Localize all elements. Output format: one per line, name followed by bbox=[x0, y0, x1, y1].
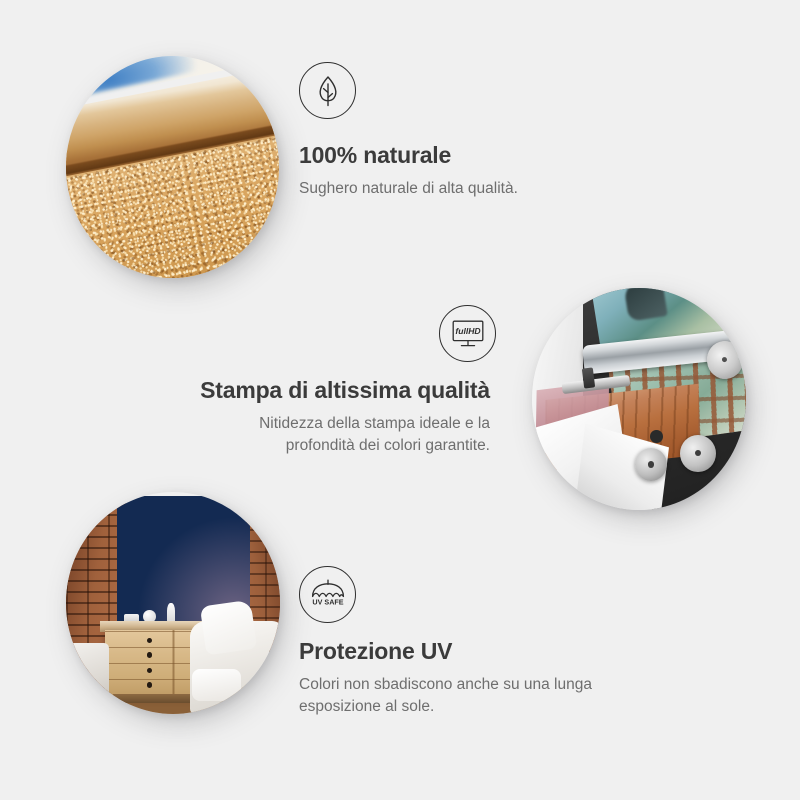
printing-press-photo bbox=[532, 288, 746, 510]
room-world-map-photo bbox=[66, 492, 280, 714]
feature-print-subtext: Nitidezza della stampa ideale e la profo… bbox=[180, 413, 490, 457]
fullhd-icon-label: fullHD bbox=[455, 326, 480, 336]
room-dresser-knob bbox=[147, 682, 153, 688]
print-photo-inner bbox=[532, 288, 746, 510]
uv-safe-icon-label: UV SAFE bbox=[312, 597, 343, 606]
feature-print-subtext-line1: Nitidezza della stampa ideale e la bbox=[259, 415, 490, 432]
print-wheel-a bbox=[635, 448, 667, 481]
feature-uv-subtext-line2: esposizione al sole. bbox=[299, 698, 434, 715]
feature-uv-headline: Protezione UV bbox=[299, 638, 699, 665]
room-photo-inner bbox=[66, 492, 280, 714]
feature-uv-subtext-line1: Colori non sbadiscono anche su una lunga bbox=[299, 676, 592, 693]
cork-photo-inner bbox=[66, 56, 279, 278]
feature-natural: 100% naturale Sughero naturale di alta q… bbox=[299, 62, 719, 200]
fullhd-monitor-icon: fullHD bbox=[439, 305, 496, 362]
room-armchair-left bbox=[66, 643, 109, 705]
room-dresser-knob bbox=[147, 668, 153, 674]
feature-natural-headline: 100% naturale bbox=[299, 142, 719, 169]
feature-uv-protection: UV SAFE Protezione UV Colori non sbadisc… bbox=[299, 566, 699, 718]
cork-texture-photo bbox=[66, 56, 279, 278]
room-cushion bbox=[200, 600, 258, 656]
uv-safe-umbrella-icon: UV SAFE bbox=[299, 566, 356, 623]
feature-natural-subtext: Sughero naturale di alta qualità. bbox=[299, 178, 719, 200]
feature-print-quality: fullHD Stampa di altissima qualità Nitid… bbox=[180, 305, 490, 457]
feature-highlights-page: 100% naturale Sughero naturale di alta q… bbox=[0, 0, 800, 800]
feature-print-headline: Stampa di altissima qualità bbox=[180, 377, 490, 404]
leaf-icon bbox=[299, 62, 356, 119]
room-dresser-knob bbox=[147, 652, 153, 658]
leaf-icon-wrap bbox=[299, 62, 356, 119]
print-wheel-b bbox=[680, 435, 716, 473]
feature-print-subtext-line2: profondità dei colori garantite. bbox=[286, 437, 490, 454]
fullhd-icon-wrap: fullHD bbox=[439, 305, 496, 362]
uv-safe-icon-wrap: UV SAFE bbox=[299, 566, 356, 623]
room-dresser-knob bbox=[147, 638, 153, 644]
print-bolt bbox=[650, 430, 663, 443]
feature-uv-subtext: Colori non sbadiscono anche su una lunga… bbox=[299, 674, 699, 718]
